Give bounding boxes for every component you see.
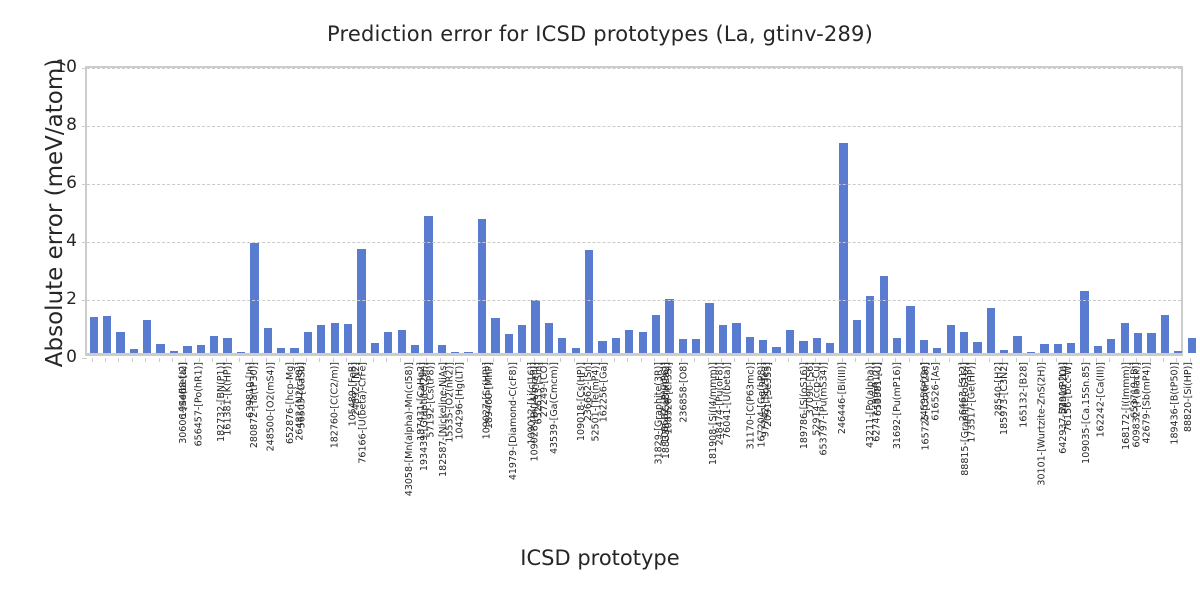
y-tick-label: 2 [39, 289, 77, 309]
x-tick-mark [373, 358, 374, 362]
x-tick-mark [319, 358, 320, 362]
bar [746, 337, 754, 353]
x-tick-mark [426, 358, 427, 362]
bar [906, 306, 914, 353]
x-tick-mark [1069, 358, 1070, 362]
bar [772, 347, 780, 353]
y-tick-label: 8 [39, 115, 77, 135]
x-tick-mark [266, 358, 267, 362]
y-tick-mark [82, 242, 87, 243]
x-tick-mark [1002, 358, 1003, 362]
x-tick-mark [654, 358, 655, 362]
bar [210, 336, 218, 353]
bar [719, 325, 727, 353]
bar [679, 339, 687, 353]
bar [223, 338, 231, 353]
bar [1094, 346, 1102, 353]
x-tick-label: 24892-[N2] [351, 362, 362, 416]
bar [1013, 336, 1021, 353]
x-tick-label: 56503-[GaSb] [296, 362, 307, 428]
x-tick-mark [788, 358, 789, 362]
bar [317, 325, 325, 353]
x-tick-label: 189436-[B(tP50)] [1169, 362, 1180, 445]
x-tick-mark [882, 358, 883, 362]
x-tick-mark [1136, 358, 1137, 362]
bar [960, 332, 968, 353]
bar [371, 343, 379, 353]
bar [973, 342, 981, 353]
x-tick-mark [1123, 358, 1124, 362]
bar [451, 352, 459, 353]
x-tick-mark [708, 358, 709, 362]
x-tick-mark [333, 358, 334, 362]
bar [156, 344, 164, 353]
bar [987, 308, 995, 353]
x-axis-tick-labels: 30606-[Se(beta)]656457-[Po(hR1)]194468-[… [85, 362, 1183, 542]
y-tick-label: 0 [39, 347, 77, 367]
bar [357, 249, 365, 353]
y-tick: 4 [87, 242, 88, 243]
bar [1121, 323, 1129, 353]
x-tick-mark [1150, 358, 1151, 362]
gridline [87, 68, 1181, 69]
x-tick-mark [989, 358, 990, 362]
x-tick-mark [962, 358, 963, 362]
bar [438, 345, 446, 353]
gridline [87, 126, 1181, 127]
x-tick-mark [453, 358, 454, 362]
x-tick-mark [975, 358, 976, 362]
gridline [87, 184, 1181, 185]
bar [398, 330, 406, 353]
bar [652, 315, 660, 353]
bar [1161, 315, 1169, 353]
x-tick-mark [1190, 358, 1191, 362]
y-tick-mark [82, 68, 87, 69]
x-tick-mark [118, 358, 119, 362]
y-tick-mark [82, 126, 87, 127]
x-tick-mark [868, 358, 869, 362]
bar [893, 338, 901, 353]
bar [625, 330, 633, 353]
x-tick-label: 43058-[Mn(alpha)-Mn(cI58)] [404, 362, 415, 496]
x-tick-mark [949, 358, 950, 362]
bar [143, 320, 151, 353]
x-tick-mark [694, 358, 695, 362]
bar [250, 243, 258, 353]
x-tick-mark [185, 358, 186, 362]
bar [384, 332, 392, 353]
gridline [87, 242, 1181, 243]
x-tick-mark [909, 358, 910, 362]
bar [1067, 343, 1075, 353]
x-tick-mark [279, 358, 280, 362]
bar [880, 276, 888, 353]
bar [531, 300, 539, 353]
x-tick-mark [212, 358, 213, 362]
x-tick-label: 27249-[CO] [539, 362, 550, 417]
x-tick-mark [842, 358, 843, 362]
x-tick-mark [1176, 358, 1177, 362]
bar [1134, 333, 1142, 353]
x-tick-label: 42679-[Sb(mP4)] [1141, 362, 1152, 444]
bar [237, 352, 245, 353]
x-tick-label: 31170-[C(P63mc)] [745, 362, 756, 449]
x-tick-label: 30101-[Wurtzite-ZnS(2H)] [1036, 362, 1047, 486]
gridline [87, 300, 1181, 301]
x-tick-label: 246446-[Bi(III)] [837, 362, 848, 434]
y-tick: 8 [87, 126, 88, 127]
x-tick-mark [440, 358, 441, 362]
x-tick-label: 2091-[Se355] [763, 362, 774, 427]
bar [290, 348, 298, 353]
x-tick-mark [1096, 358, 1097, 362]
bar [853, 320, 861, 353]
x-tick-mark [1109, 358, 1110, 362]
x-tick-mark [1056, 358, 1057, 362]
x-tick-label: 245956-[Ge] [919, 362, 930, 422]
x-tick-label: 236858-[O8] [679, 362, 690, 423]
x-tick-mark [734, 358, 735, 362]
bar [705, 303, 713, 353]
x-tick-label: 194468-[I2] [178, 362, 189, 418]
x-axis-label: ICSD prototype [0, 546, 1200, 570]
x-tick-label: 104296-[Hg(LT)] [454, 362, 465, 439]
y-tick: 6 [87, 184, 88, 185]
x-tick-mark [293, 358, 294, 362]
bar [558, 338, 566, 353]
x-tick-mark [587, 358, 588, 362]
x-tick-mark [534, 358, 535, 362]
x-tick-label: 639810-[In] [245, 362, 256, 418]
chart-root: Prediction error for ICSD prototypes (La… [0, 0, 1200, 600]
x-tick-label: 88820-[Si(HP)] [1183, 362, 1194, 432]
x-tick-label: 26463-[S12] [958, 362, 969, 421]
bar [1054, 344, 1062, 353]
bar [478, 219, 486, 353]
bar [116, 332, 124, 353]
x-tick-mark [748, 358, 749, 362]
bar [90, 317, 98, 353]
y-tick: 2 [87, 300, 88, 301]
bar [799, 341, 807, 353]
bar [813, 338, 821, 353]
bar [665, 299, 673, 353]
bar [933, 348, 941, 353]
x-tick-mark [1016, 358, 1017, 362]
bar-series [87, 68, 1181, 353]
bar [491, 318, 499, 353]
x-tick-label: 31692-[Pu(mP16)] [893, 362, 904, 449]
bar [1027, 352, 1035, 353]
x-tick-mark [761, 358, 762, 362]
bar [598, 341, 606, 353]
x-tick-label: 653381-[U] [873, 362, 884, 416]
bar [424, 216, 432, 353]
x-tick-label: 37090-[S6] [805, 362, 816, 415]
x-tick-mark [801, 358, 802, 362]
x-tick-label: 43539-[Ga(Cmcm)] [549, 362, 560, 454]
bar [1107, 339, 1115, 353]
y-tick: 10 [87, 68, 88, 69]
x-tick-label: 189460-[MnP] [484, 362, 495, 429]
x-tick-label: 109035-[Ca.15Sn.85] [1081, 362, 1092, 464]
x-tick-mark [547, 358, 548, 362]
bar [545, 323, 553, 353]
bar [518, 325, 526, 353]
x-tick-mark [386, 358, 387, 362]
chart-title: Prediction error for ICSD prototypes (La… [0, 22, 1200, 46]
bar [1040, 344, 1048, 353]
bar [692, 339, 700, 354]
x-tick-mark [601, 358, 602, 362]
x-tick-label: 165132-[B28] [1018, 362, 1029, 428]
bar [103, 316, 111, 353]
x-tick-mark [306, 358, 307, 362]
bar [1147, 333, 1155, 353]
bar [170, 351, 178, 353]
x-tick-label: 76041-[U(beta)] [722, 362, 733, 439]
x-tick-mark [681, 358, 682, 362]
x-tick-mark [172, 358, 173, 362]
x-tick-mark [145, 358, 146, 362]
y-tick-mark [82, 300, 87, 301]
bar [786, 330, 794, 353]
x-tick-mark [226, 358, 227, 362]
bar [264, 328, 272, 353]
x-tick-mark [922, 358, 923, 362]
y-tick-label: 4 [39, 231, 77, 251]
x-tick-mark [935, 358, 936, 362]
bar [839, 143, 847, 353]
bar [759, 340, 767, 353]
x-tick-mark [574, 358, 575, 362]
bar [464, 352, 472, 353]
bar [411, 345, 419, 353]
x-tick-mark [413, 358, 414, 362]
plot-area: 0246810 [85, 66, 1183, 356]
bar [1188, 338, 1196, 353]
bar [732, 323, 740, 353]
x-tick-label: 656457-[Po(hR1)] [193, 362, 204, 446]
bar [344, 324, 352, 353]
x-tick-mark [641, 358, 642, 362]
x-tick-mark [775, 358, 776, 362]
x-tick-mark [560, 358, 561, 362]
x-tick-mark [493, 358, 494, 362]
bar [1000, 350, 1008, 353]
y-tick: 0 [87, 358, 88, 359]
x-tick-label: 108326-[Cr3Si] [663, 362, 674, 434]
bar [612, 338, 620, 353]
x-tick-label: 236662-[Sn] [583, 362, 594, 421]
x-tick-mark [1042, 358, 1043, 362]
x-tick-label: 248500-[O2(mS4)] [265, 362, 276, 451]
bar [826, 343, 834, 353]
x-tick-mark [1163, 358, 1164, 362]
x-tick-mark [828, 358, 829, 362]
x-tick-mark [667, 358, 668, 362]
x-tick-mark [105, 358, 106, 362]
bar [920, 340, 928, 353]
x-tick-label: 52916-[La] [1058, 362, 1069, 414]
x-tick-mark [815, 358, 816, 362]
bar [130, 349, 138, 353]
x-tick-mark [1029, 358, 1030, 362]
x-tick-mark [360, 358, 361, 362]
x-tick-label: 162256-[Ga] [598, 362, 609, 422]
bar [197, 345, 205, 353]
bar [277, 348, 285, 353]
y-axis-label: Absolute error (meV/atom) [42, 48, 68, 378]
bar [639, 332, 647, 353]
x-tick-mark [252, 358, 253, 362]
bar [572, 348, 580, 353]
x-tick-label: 162242-[Ca(III)] [1095, 362, 1106, 437]
y-tick-mark [82, 358, 87, 359]
x-tick-label: 28540-[H2] [994, 362, 1005, 416]
x-tick-mark [92, 358, 93, 362]
x-tick-mark [480, 358, 481, 362]
bar [331, 323, 339, 353]
x-tick-label: 57192-[Cs(tP8)] [426, 362, 437, 438]
x-tick-mark [400, 358, 401, 362]
y-tick-label: 6 [39, 173, 77, 193]
x-tick-mark [855, 358, 856, 362]
x-tick-mark [199, 358, 200, 362]
x-tick-mark [507, 358, 508, 362]
bar [304, 332, 312, 353]
x-tick-mark [895, 358, 896, 362]
x-tick-mark [346, 358, 347, 362]
bar [505, 334, 513, 353]
x-tick-mark [520, 358, 521, 362]
x-tick-mark [721, 358, 722, 362]
x-tick-label: 182760-[C(C2/m)] [329, 362, 340, 448]
bar [866, 296, 874, 353]
bar [585, 250, 593, 353]
x-tick-label: 41979-[Diamond-C(cF8)] [508, 362, 519, 480]
x-tick-label: 161381-[K(HP)] [223, 362, 234, 436]
y-tick-label: 10 [39, 57, 77, 77]
x-tick-mark [614, 358, 615, 362]
x-tick-mark [627, 358, 628, 362]
bar [947, 325, 955, 353]
x-tick-label: 616526-[As] [931, 362, 942, 421]
x-tick-mark [239, 358, 240, 362]
x-tick-label: 653719-[Bi] [1129, 362, 1140, 418]
x-tick-mark [467, 358, 468, 362]
x-tick-mark [132, 358, 133, 362]
x-tick-mark [1083, 358, 1084, 362]
bar [1174, 351, 1182, 353]
bar [183, 346, 191, 353]
y-tick-mark [82, 184, 87, 185]
x-tick-mark [159, 358, 160, 362]
